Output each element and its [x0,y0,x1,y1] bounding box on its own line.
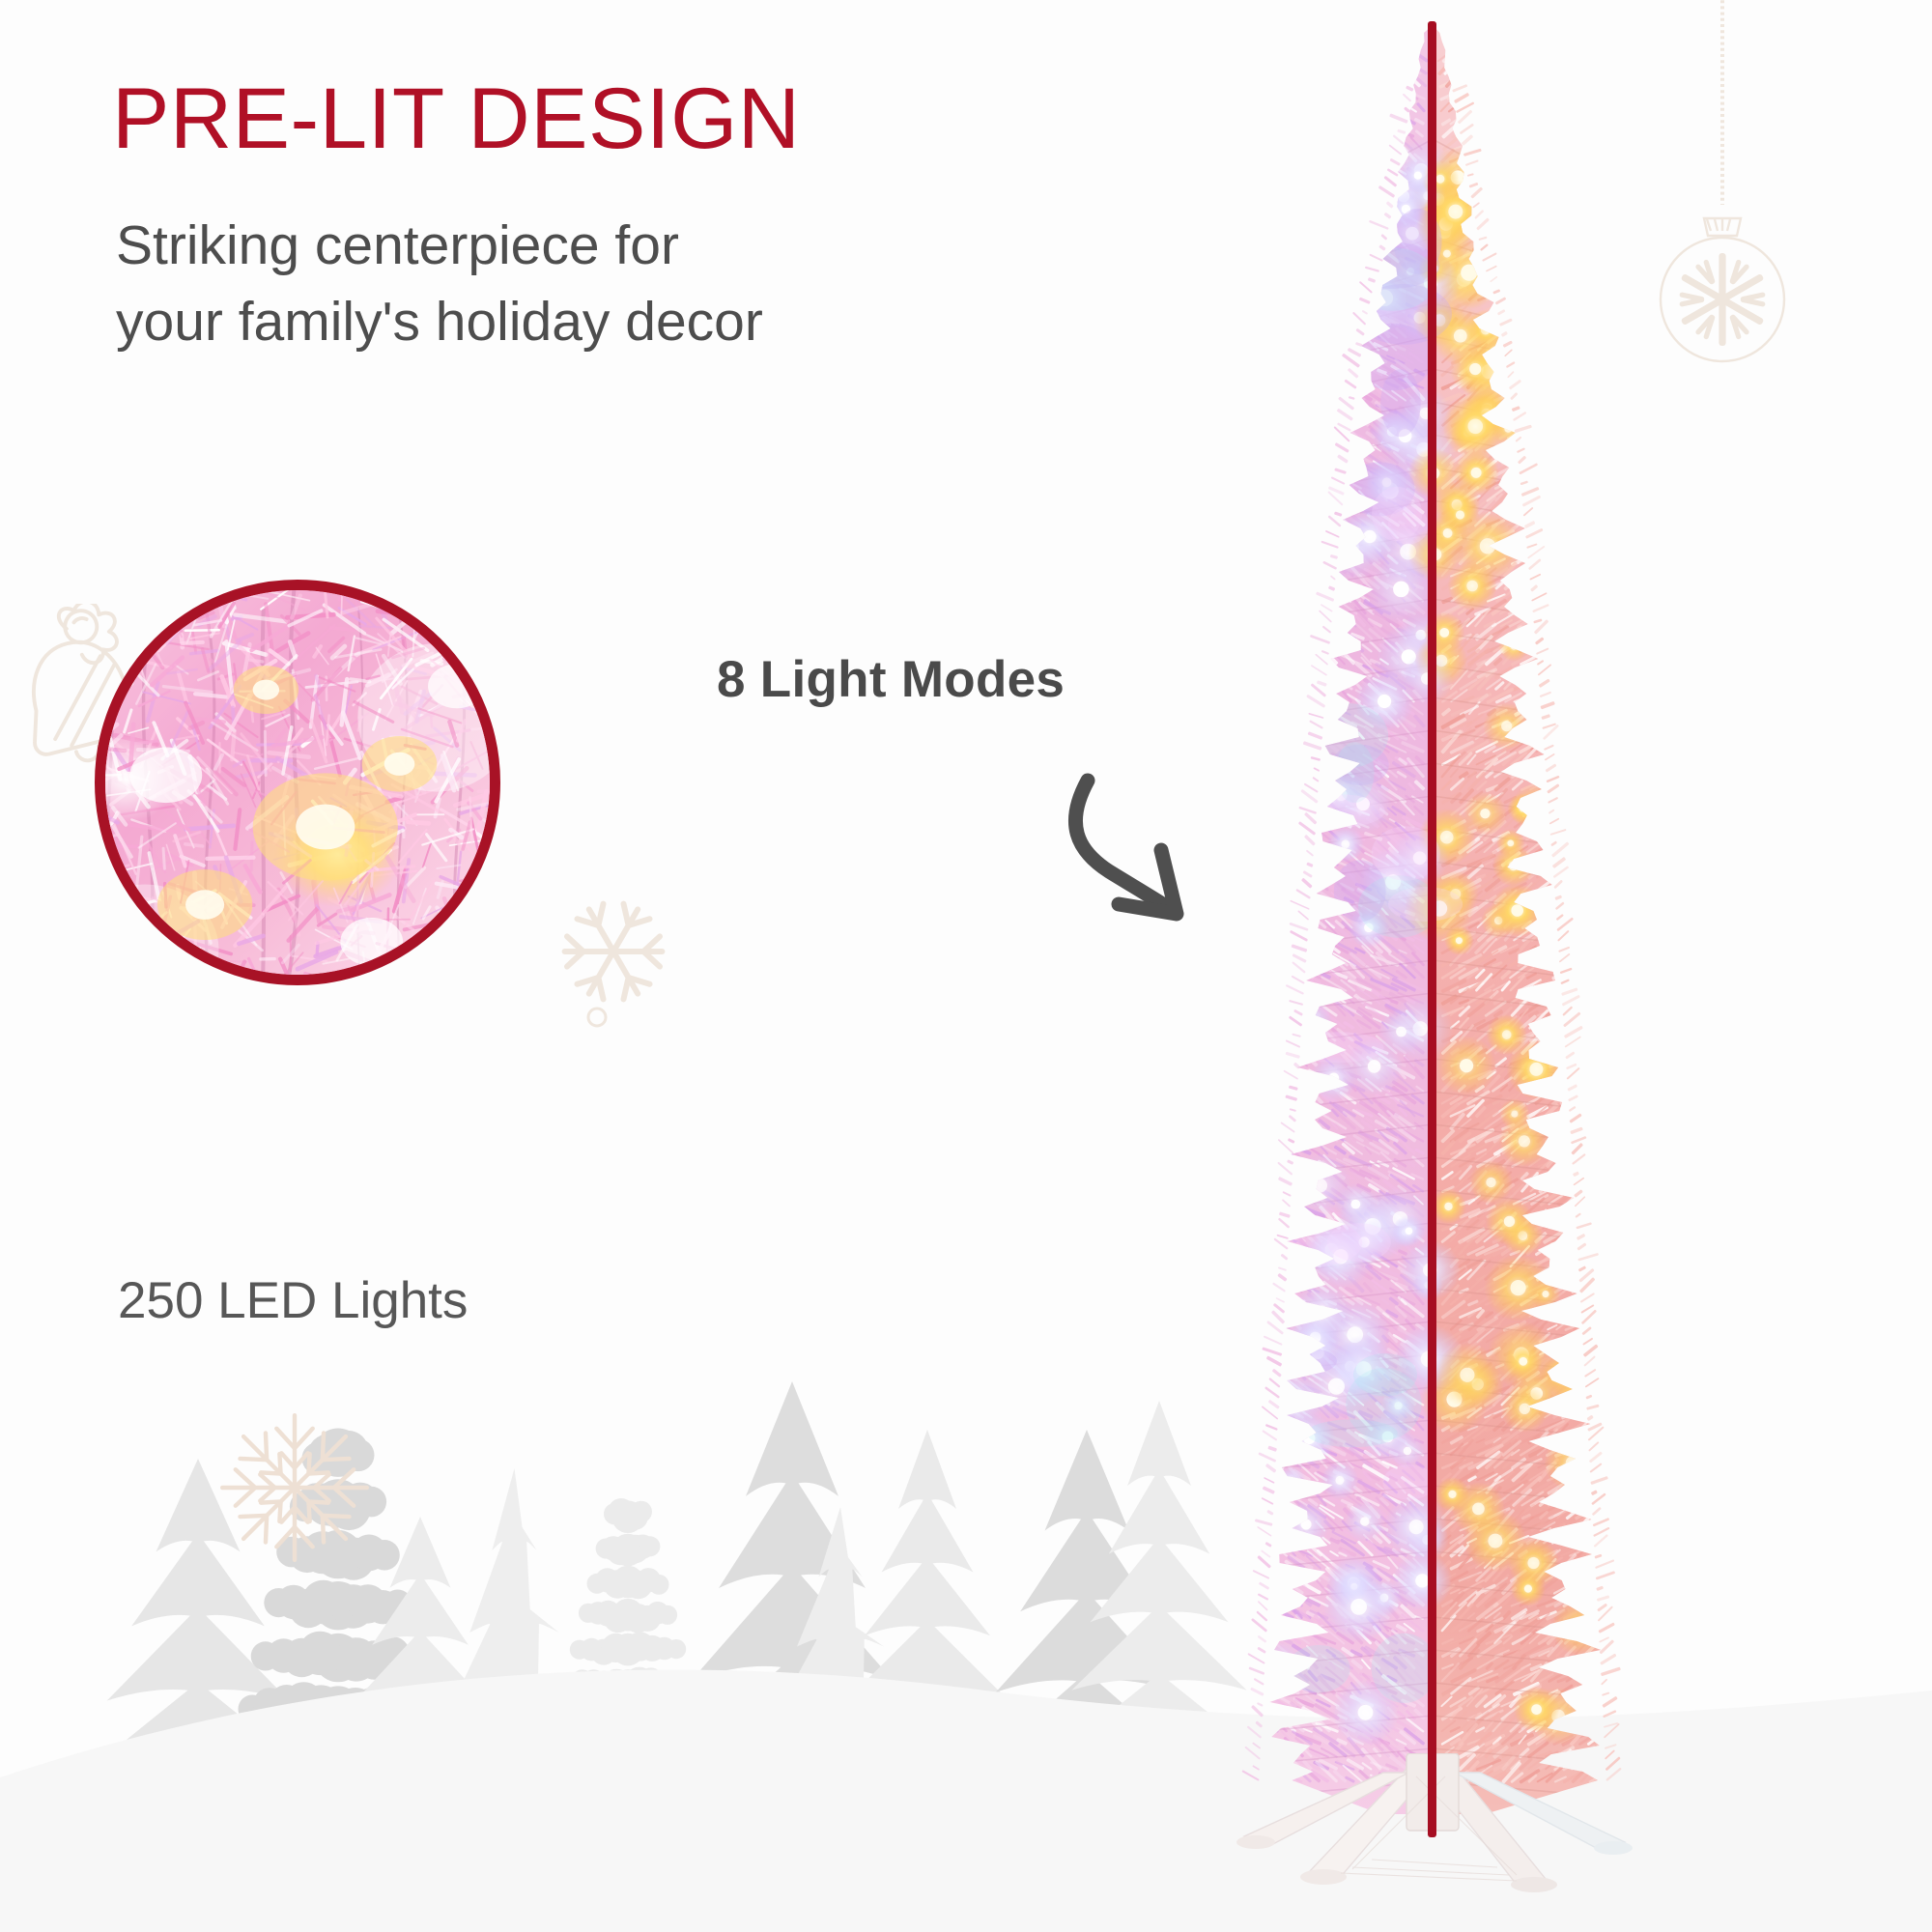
led-count-caption: 250 LED Lights [118,1271,468,1330]
tree-illustration [1150,19,1690,1864]
subhead-line-2: your family's holiday decor [116,291,763,353]
page-headline: PRE-LIT DESIGN [112,75,801,161]
vertical-split-divider-icon [1428,21,1436,1837]
page-subheadline: Striking centerpiece foryour family's ho… [116,208,763,359]
light-modes-label: 8 Light Modes [717,650,1065,709]
infographic-canvas: PRE-LIT DESIGN Striking centerpiece fory… [0,0,1932,1932]
led-closeup-inset [95,580,500,985]
product-tree [1150,19,1690,1864]
subhead-line-1: Striking centerpiece for [116,214,679,276]
circular-closeup-inset [95,580,500,985]
